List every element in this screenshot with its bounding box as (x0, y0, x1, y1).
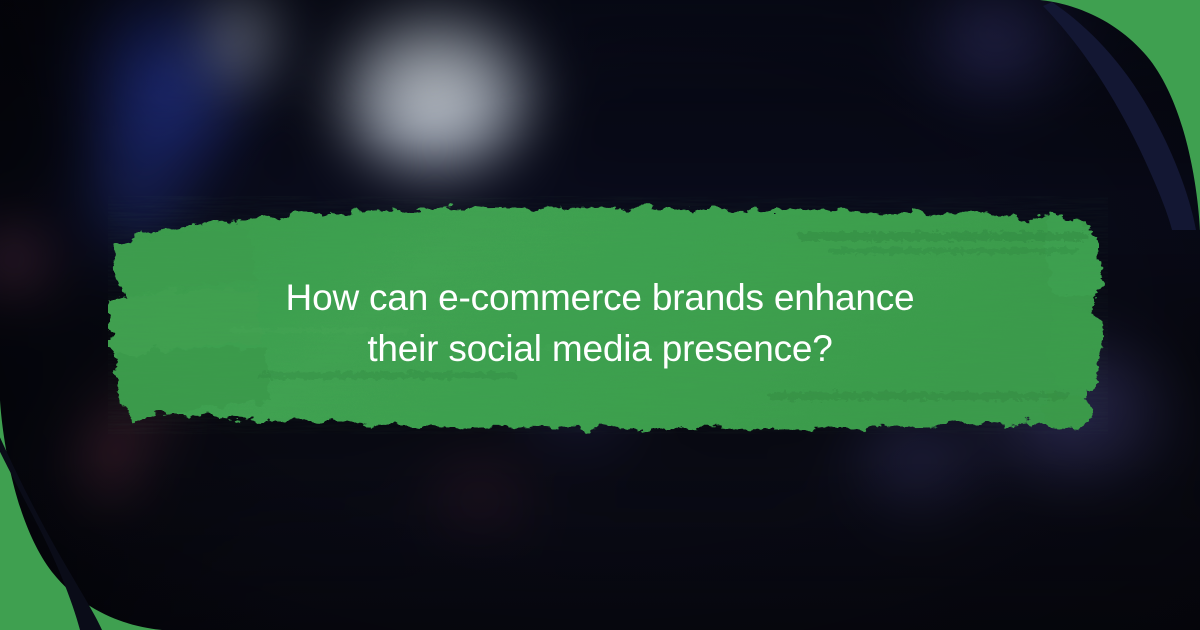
headline-line-1: How can e-commerce brands enhance (286, 277, 915, 318)
social-share-card: How can e-commerce brands enhance their … (0, 0, 1200, 630)
page-title: How can e-commerce brands enhance their … (0, 272, 1200, 374)
headline-line-2: their social media presence? (367, 328, 832, 369)
